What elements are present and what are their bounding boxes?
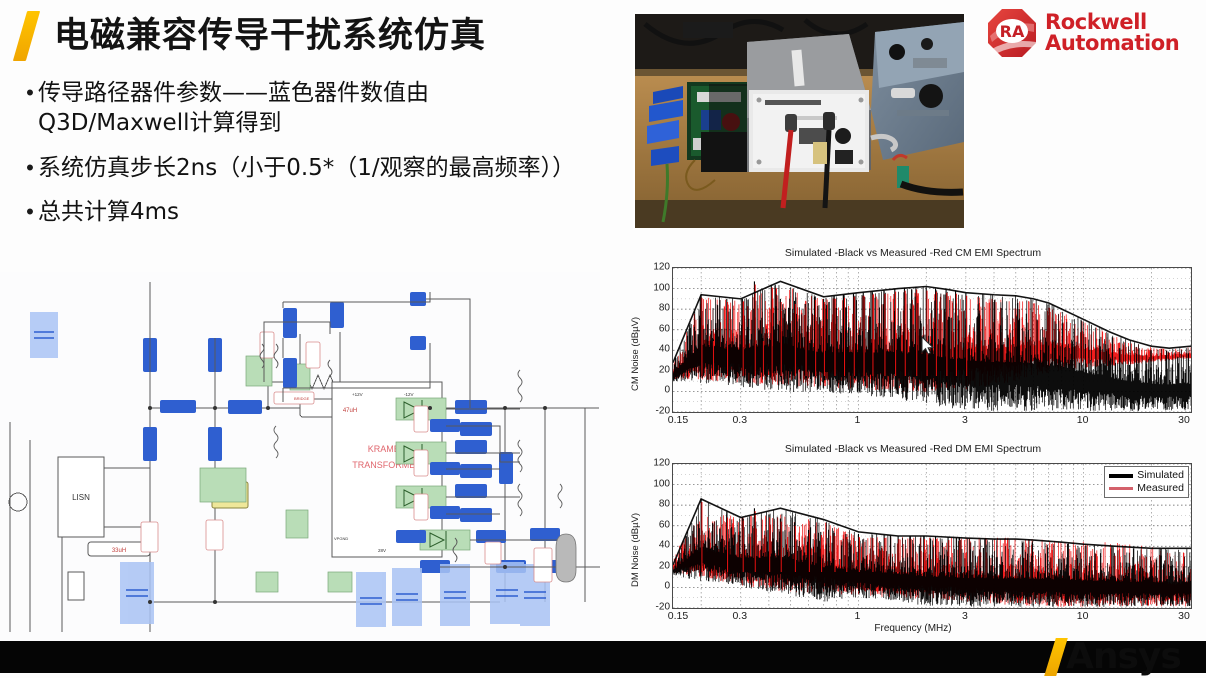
transformer-pin-minus12v: -12V xyxy=(404,392,414,397)
ytick-label: 120 xyxy=(653,458,670,469)
xtick-label: 1 xyxy=(855,414,861,426)
svg-text:BRIDGE: BRIDGE xyxy=(294,396,310,401)
chart-plot-area-dm: Simulated Measured xyxy=(672,463,1192,609)
lab-setup-photo xyxy=(633,12,966,230)
ytick-label: 40 xyxy=(659,344,670,355)
page-title: 电磁兼容传导干扰系统仿真 xyxy=(54,19,486,54)
ansys-logo: Ansys xyxy=(1048,634,1181,678)
ytick-label: 80 xyxy=(659,303,670,314)
xtick-label: 3 xyxy=(962,414,968,426)
title-accent-slash-icon xyxy=(16,11,42,61)
legend-label-measured: Measured xyxy=(1137,482,1184,495)
chart-title-dm: Simulated -Black vs Measured -Red DM EMI… xyxy=(620,440,1206,455)
legend-swatch-measured xyxy=(1109,487,1133,490)
bullet-text: 系统仿真步长2ns（小于0.5*（1/观察的最高频率）） xyxy=(38,153,575,183)
transformer-pin-28v: 28V xyxy=(378,548,386,553)
list-item: • 总共计算4ms xyxy=(22,197,582,227)
bullet-text: 传导路径器件参数——蓝色器件数值由 Q3D/Maxwell计算得到 xyxy=(38,78,582,139)
xtick-label: 10 xyxy=(1077,610,1089,622)
chart-plot-area-cm xyxy=(672,267,1192,413)
ansys-wordmark: Ansys xyxy=(1066,636,1181,677)
xtick-label: 30 xyxy=(1178,414,1190,426)
bullet-marker-icon: • xyxy=(22,153,38,183)
ytick-label: 40 xyxy=(659,540,670,551)
ytick-label: 20 xyxy=(659,364,670,375)
xtick-label: 10 xyxy=(1077,414,1089,426)
legend-entry-measured: Measured xyxy=(1109,482,1184,495)
load-symbol-icon xyxy=(556,534,576,582)
ra-badge-icon: RA xyxy=(985,6,1039,60)
ytick-label: 100 xyxy=(653,282,670,293)
chart-xaxis-dm: 0.150.3131030 xyxy=(672,608,1190,624)
brand-line-rockwell: Rockwell xyxy=(1045,12,1179,33)
xtick-label: 1 xyxy=(855,610,861,622)
xtick-label: 3 xyxy=(962,610,968,622)
ytick-label: 80 xyxy=(659,499,670,510)
xtick-label: 0.15 xyxy=(668,610,688,622)
chart-legend-dm: Simulated Measured xyxy=(1104,466,1189,498)
bullet-marker-icon: • xyxy=(22,197,38,227)
bottom-black-bar xyxy=(0,641,1206,673)
ytick-label: 60 xyxy=(659,323,670,334)
ytick-label: 20 xyxy=(659,560,670,571)
xtick-label: 0.3 xyxy=(732,414,747,426)
inductor-33uh-label: 33uH xyxy=(112,548,126,554)
ra-monogram-text: RA xyxy=(1000,22,1025,41)
bullet-list: • 传导路径器件参数——蓝色器件数值由 Q3D/Maxwell计算得到 • 系统… xyxy=(22,78,582,241)
chart-yaxis-cm: 120100806040200-20 xyxy=(634,267,670,411)
slide-canvas: 电磁兼容传导干扰系统仿真 • 传导路径器件参数——蓝色器件数值由 Q3D/Max… xyxy=(0,0,1206,678)
list-item: • 系统仿真步长2ns（小于0.5*（1/观察的最高频率）） xyxy=(22,153,582,183)
xtick-label: 0.15 xyxy=(668,414,688,426)
rockwell-automation-logo: RA Rockwell Automation xyxy=(985,4,1200,62)
ytick-label: 120 xyxy=(653,262,670,273)
xtick-label: 30 xyxy=(1178,610,1190,622)
chart-title-cm: Simulated -Black vs Measured -Red CM EMI… xyxy=(620,244,1206,259)
bullet-marker-icon: • xyxy=(22,78,38,139)
legend-entry-simulated: Simulated xyxy=(1109,469,1184,482)
legend-label-simulated: Simulated xyxy=(1137,469,1184,482)
bullet-text: 总共计算4ms xyxy=(38,197,179,227)
lisn-label: LISN xyxy=(72,493,90,502)
ytick-label: 60 xyxy=(659,519,670,530)
chart-xaxis-cm: 0.150.3131030 xyxy=(672,412,1190,428)
slide-title-row: 电磁兼容传导干扰系统仿真 xyxy=(16,8,486,64)
chart-xlabel-dm: Frequency (MHz) xyxy=(620,623,1206,634)
circuit-schematic: KRAMER TRANSFORMER +12V -12V 28V VPGND P… xyxy=(0,272,600,642)
brand-line-automation: Automation xyxy=(1045,33,1179,54)
transformer-pin-plus12v: +12V xyxy=(352,392,363,397)
ytick-label: 0 xyxy=(664,385,670,396)
rockwell-wordmark: Rockwell Automation xyxy=(1045,12,1179,54)
chart-dm-emi-spectrum: Simulated -Black vs Measured -Red DM EMI… xyxy=(620,440,1206,640)
ytick-label: 100 xyxy=(653,478,670,489)
ansys-accent-slash-icon xyxy=(1048,636,1070,676)
chart-yaxis-dm: 120100806040200-20 xyxy=(634,463,670,607)
ytick-label: 0 xyxy=(664,581,670,592)
xtick-label: 0.3 xyxy=(732,610,747,622)
transformer-pin-vpgnd: VPGND xyxy=(334,536,348,541)
chart-cm-emi-spectrum: Simulated -Black vs Measured -Red CM EMI… xyxy=(620,244,1206,440)
legend-swatch-simulated xyxy=(1109,474,1133,478)
inductor-47uh-label: 47uH xyxy=(343,408,357,414)
list-item: • 传导路径器件参数——蓝色器件数值由 Q3D/Maxwell计算得到 xyxy=(22,78,582,139)
